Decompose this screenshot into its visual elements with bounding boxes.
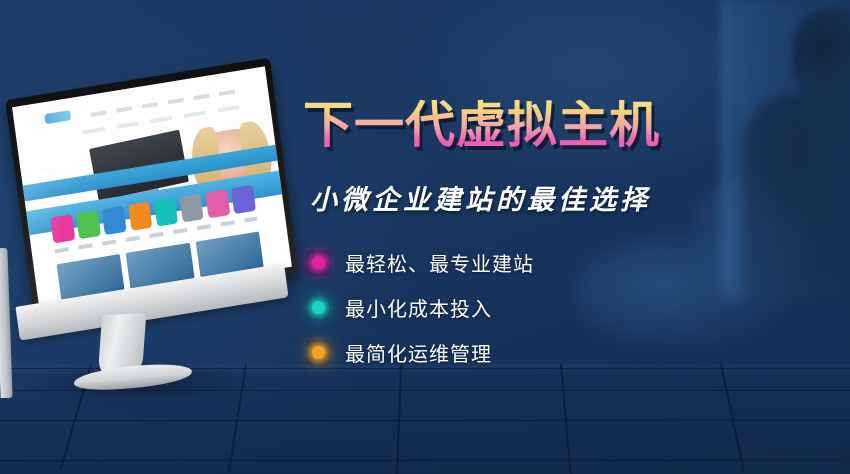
bullet-dot-icon — [305, 340, 331, 366]
imac-monitor-mockup — [8, 78, 308, 408]
bullet-dot-icon — [305, 295, 331, 321]
background-person-body — [742, 92, 850, 307]
feature-list: 最轻松、最专业建站 最小化成本投入 最简化运维管理 — [305, 248, 534, 367]
list-item: 最简化运维管理 — [305, 338, 534, 367]
headline-title: 下一代虚拟主机 — [303, 100, 660, 150]
feature-label: 最简化运维管理 — [345, 338, 492, 367]
background-person-head — [792, 8, 850, 103]
feature-label: 最小化成本投入 — [345, 293, 492, 322]
feature-label: 最轻松、最专业建站 — [345, 248, 534, 277]
bullet-dot-icon — [305, 250, 331, 276]
headline-subtitle: 小微企业建站的最佳选择 — [310, 178, 651, 217]
list-item: 最小化成本投入 — [305, 293, 534, 322]
promo-banner: 下一代虚拟主机 小微企业建站的最佳选择 最轻松、最专业建站 最小化成本投入 最简… — [0, 0, 850, 474]
list-item: 最轻松、最专业建站 — [305, 248, 534, 277]
